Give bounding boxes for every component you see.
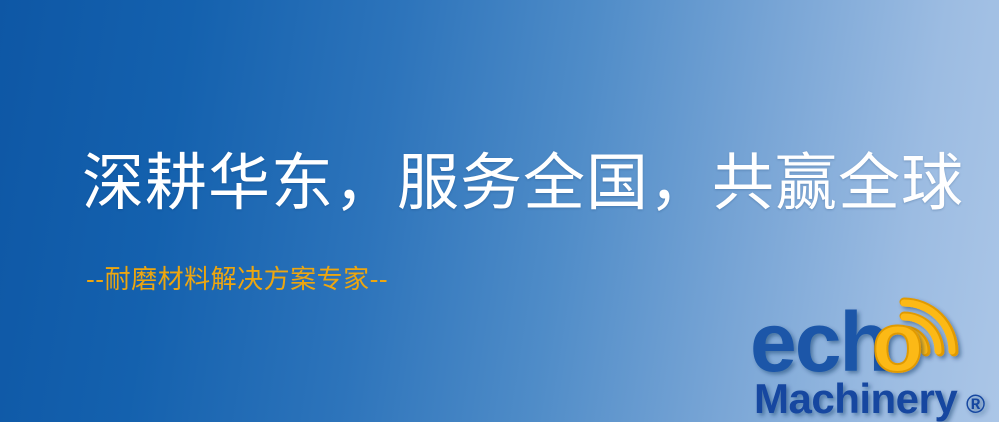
logo-registered-mark: ® [966,389,985,419]
echo-machinery-logo: ech o Machinery ® [748,292,999,422]
banner-headline: 深耕华东，服务全国，共赢全球 [82,152,942,214]
banner-subtitle: --耐磨材料解决方案专家-- [86,266,388,295]
hero-banner: 深耕华东，服务全国，共赢全球 --耐磨材料解决方案专家-- ech [0,0,999,422]
logo-brand-machinery: Machinery [754,375,958,422]
